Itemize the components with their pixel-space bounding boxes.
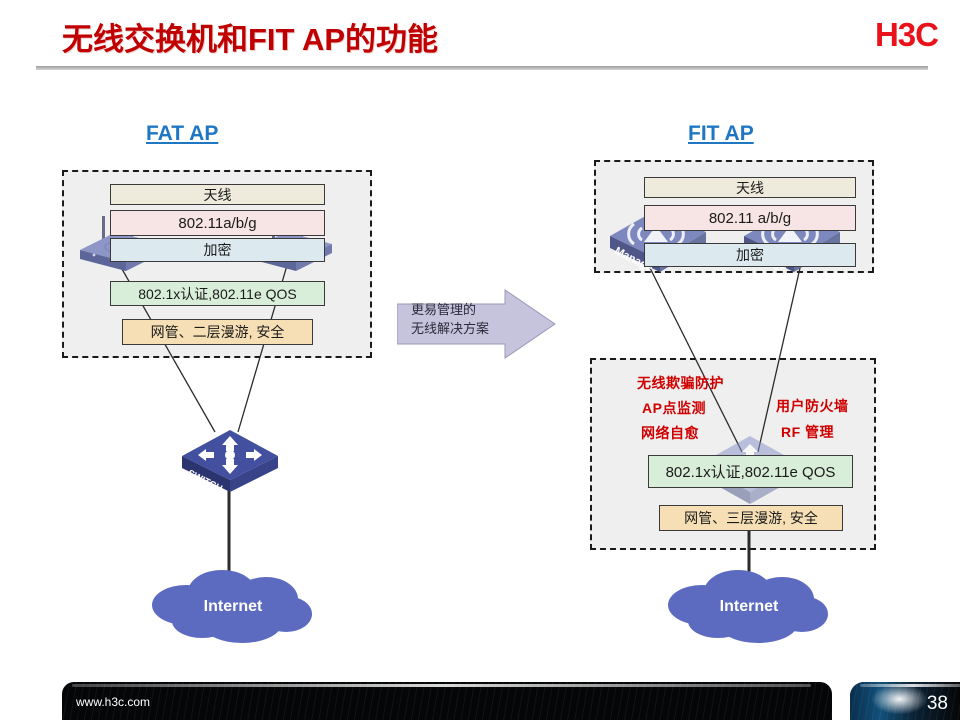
feature-label-user-firewall: 用户防火墙	[776, 396, 849, 416]
switch-device: SWITCH	[178, 424, 282, 494]
benefit-line-1: 更易管理的	[411, 300, 523, 319]
feature-label-ap-monitor: AP点监测	[642, 398, 706, 418]
benefit-arrow-text: 更易管理的 无线解决方案	[411, 300, 523, 338]
page-number-highlight	[860, 684, 960, 687]
footer-bar: www.h3c.com	[62, 682, 832, 720]
footer-stripes	[62, 682, 832, 720]
internet-cloud-left: Internet	[150, 565, 316, 645]
page-number-bar: 38	[850, 682, 960, 720]
fat-layer-encryption: 加密	[110, 238, 325, 262]
internet-cloud-label: Internet	[720, 598, 779, 615]
internet-cloud-right: Internet	[666, 565, 832, 645]
slide-canvas: 无线交换机和FIT AP的功能 H3C FAT AP FIT AP	[0, 0, 960, 720]
footer-highlight	[72, 684, 811, 687]
fat-ap-heading: FAT AP	[146, 122, 218, 146]
fat-layer-auth-qos: 802.1x认证,802.11e QOS	[110, 281, 325, 306]
h3c-logo: H3C	[875, 16, 938, 54]
page-title: 无线交换机和FIT AP的功能	[62, 14, 438, 59]
footer-website-url[interactable]: www.h3c.com	[76, 695, 150, 709]
fat-layer-radio: 802.11a/b/g	[110, 210, 325, 236]
fit-layer-radio: 802.11 a/b/g	[644, 205, 856, 231]
title-divider	[36, 66, 928, 70]
benefit-line-2: 无线解决方案	[411, 319, 523, 338]
internet-cloud-label: Internet	[204, 598, 263, 615]
fat-layer-management: 网管、二层漫游, 安全	[122, 319, 313, 345]
fit-layer-encryption: 加密	[644, 243, 856, 267]
benefit-arrow: 更易管理的 无线解决方案	[397, 288, 557, 360]
feature-label-self-healing: 网络自愈	[641, 423, 699, 443]
feature-label-wireless-spoof: 无线欺骗防护	[637, 373, 724, 393]
feature-label-rf-management: RF 管理	[781, 422, 834, 442]
fit-layer-antenna: 天线	[644, 177, 856, 198]
fit-layer-auth-qos: 802.1x认证,802.11e QOS	[648, 455, 853, 488]
fat-layer-antenna: 天线	[110, 184, 325, 205]
fit-layer-management: 网管、三层漫游, 安全	[659, 505, 843, 531]
page-number: 38	[927, 693, 948, 715]
fit-ap-heading: FIT AP	[688, 122, 754, 146]
